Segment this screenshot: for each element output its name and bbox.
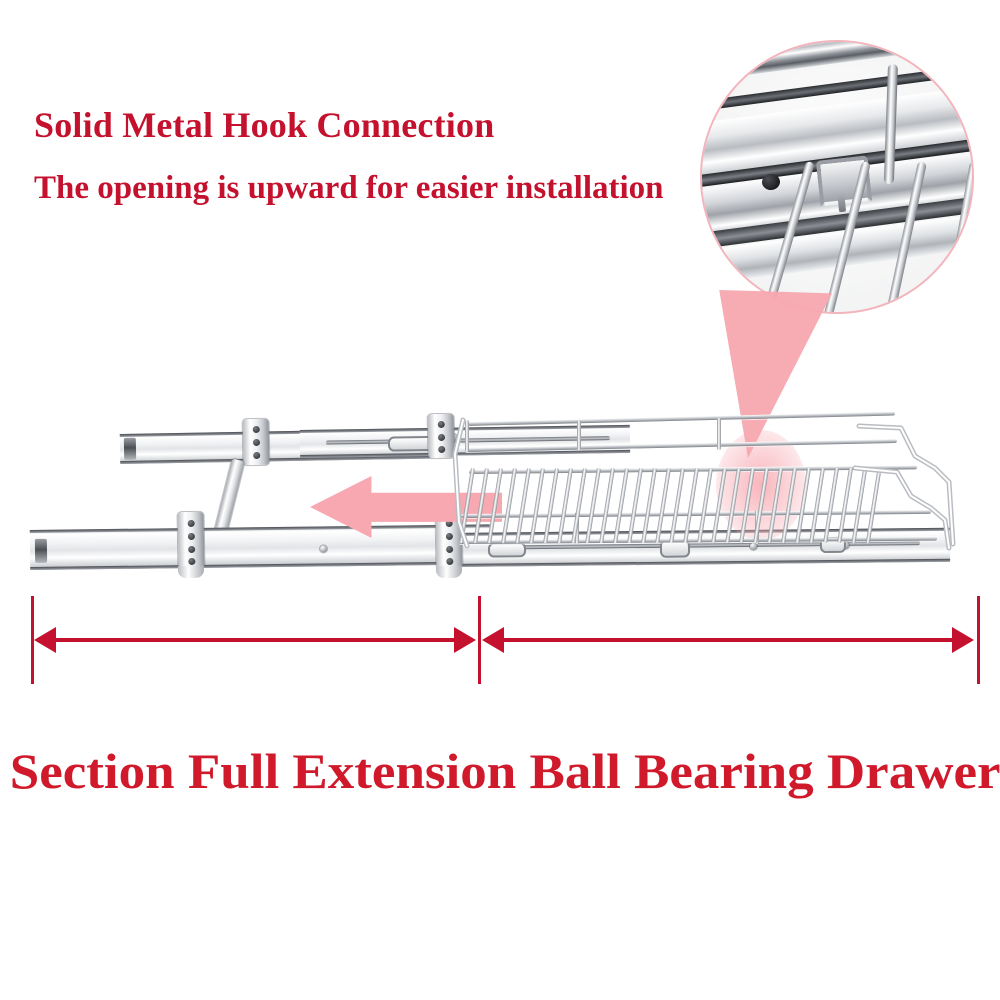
- dimension-tick-right: [977, 596, 980, 684]
- dimension-annotations: [0, 0, 1000, 1000]
- dimension-line-closed: [54, 638, 456, 642]
- dimension-arrowhead-left: [482, 627, 504, 653]
- dimension-line-travel: [502, 638, 954, 642]
- dimension-tick-middle: [478, 596, 481, 684]
- banner-title: 3 Section Full Extension Ball Bearing Dr…: [0, 742, 1000, 800]
- dimension-arrowhead-right: [454, 627, 476, 653]
- dimension-arrowhead-left: [34, 627, 56, 653]
- dimension-arrowhead-right: [952, 627, 974, 653]
- infographic-canvas: Solid Metal Hook Connection The opening …: [0, 0, 1000, 1000]
